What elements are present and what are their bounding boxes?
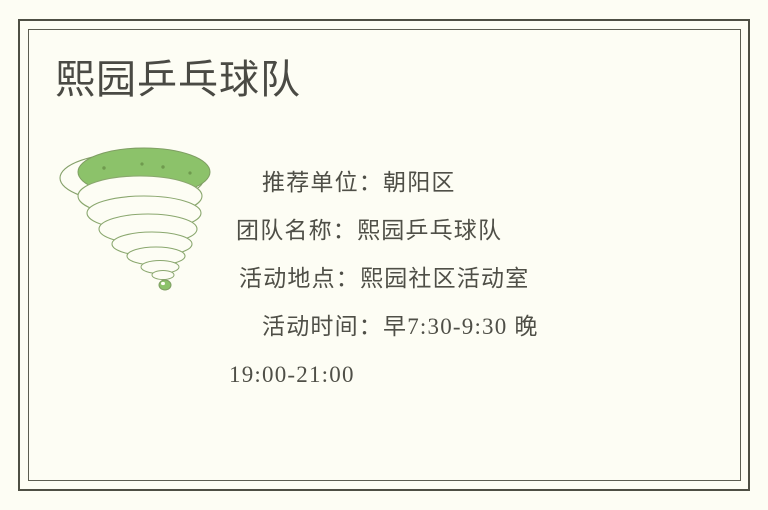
info-line-activity-time: 活动时间：早7:30-9:30 晚 xyxy=(222,307,642,355)
tornado-tip-highlight xyxy=(161,282,165,285)
tornado-ring-7 xyxy=(152,271,174,280)
info-line-activity-time-cont: 19:00-21:00 xyxy=(222,355,642,403)
tornado-tip-ball xyxy=(159,280,171,290)
team-info-card: 熙园乒乓球队 xyxy=(0,0,768,510)
info-line-team-name: 团队名称：熙园乒乓球队 xyxy=(222,211,642,259)
page-title: 熙园乒乓球队 xyxy=(55,56,301,104)
tornado-illustration xyxy=(52,140,232,305)
info-line-activity-location: 活动地点：熙园社区活动室 xyxy=(222,259,642,307)
tornado-svg xyxy=(52,140,232,305)
info-line-recommending-unit: 推荐单位：朝阳区 xyxy=(222,163,642,211)
team-info-list: 推荐单位：朝阳区 团队名称：熙园乒乓球队 活动地点：熙园社区活动室 活动时间：早… xyxy=(222,163,642,403)
